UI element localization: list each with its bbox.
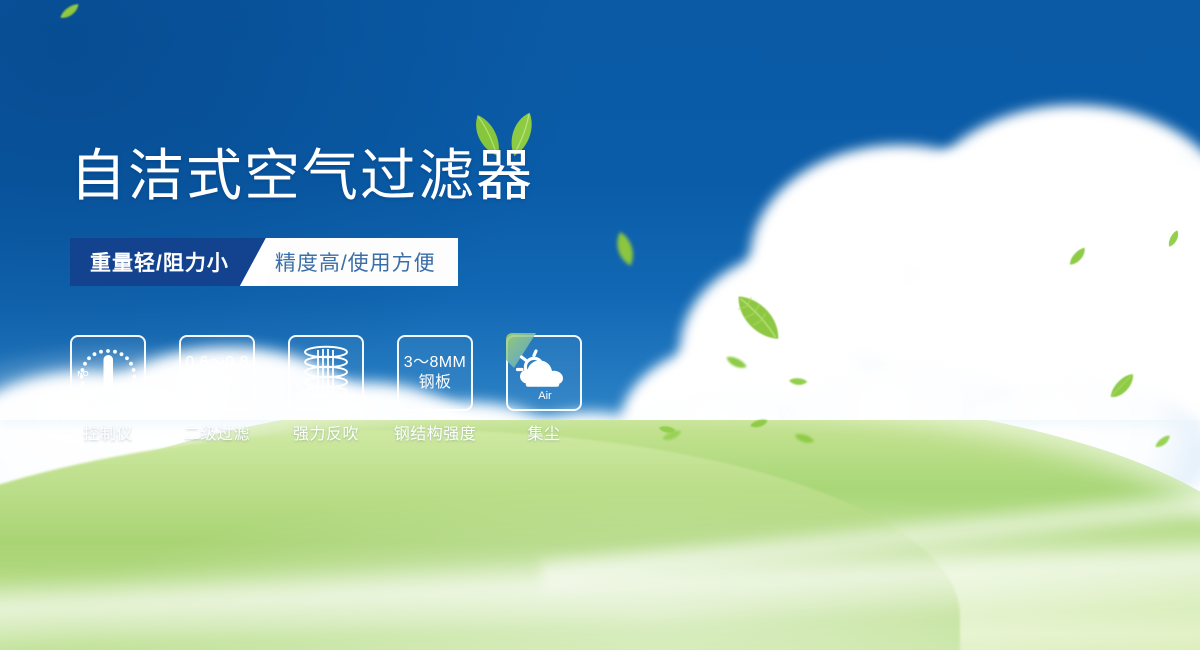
tag-precision-easyuse: 精度高/使用方便: [263, 238, 458, 286]
feature-label: 控制仪: [83, 420, 133, 444]
subtitle-tags: 重量轻/阻力小 精度高/使用方便: [70, 238, 458, 286]
feature-icon-box: Air: [506, 335, 582, 411]
feature-label: 二级过滤: [184, 420, 250, 444]
product-banner: 自洁式空气过滤器 重量轻/阻力小 精度高/使用方便: [0, 0, 1200, 650]
feature-icon-box: 0.6〜0.8MPA: [179, 335, 255, 411]
feature-item-two-stage-filter[interactable]: 0.6〜0.8MPA 二级过滤: [179, 335, 255, 444]
feature-item-dust-collection[interactable]: Air 集尘: [506, 335, 582, 444]
air-label: Air: [538, 390, 552, 402]
feature-list: NO OFF 控制仪 0.6〜0.8MPA 二级过滤: [70, 335, 582, 444]
gauge-off-label: OFF: [118, 390, 133, 397]
grass-sun-glow: [0, 420, 1200, 650]
pressure-icon-text: 0.6〜0.8MPA: [185, 353, 248, 392]
page-title: 自洁式空气过滤器: [70, 143, 534, 209]
feature-item-controller[interactable]: NO OFF 控制仪: [70, 335, 146, 444]
grass-field: [0, 420, 1200, 650]
feature-item-blowback[interactable]: 强力反吹: [288, 335, 364, 444]
feature-label: 钢结构强度: [394, 420, 477, 444]
feature-icon-box: NO OFF: [70, 335, 146, 411]
gauge-on-label: NO: [77, 369, 88, 378]
feature-label: 强力反吹: [293, 420, 359, 444]
feature-icon-box: 3〜8MM钢板: [397, 335, 473, 411]
gauge-icon: NO OFF: [75, 343, 141, 403]
steel-plate-icon-text: 3〜8MM钢板: [404, 353, 466, 392]
feature-icon-box: [288, 335, 364, 411]
feature-label: 集尘: [527, 420, 560, 444]
air-cloud-icon: Air: [512, 342, 576, 404]
blowback-icon: [297, 343, 355, 403]
feature-item-steel-strength[interactable]: 3〜8MM钢板 钢结构强度: [397, 335, 473, 444]
tag-lightweight-lowresistance: 重量轻/阻力小: [70, 238, 251, 286]
